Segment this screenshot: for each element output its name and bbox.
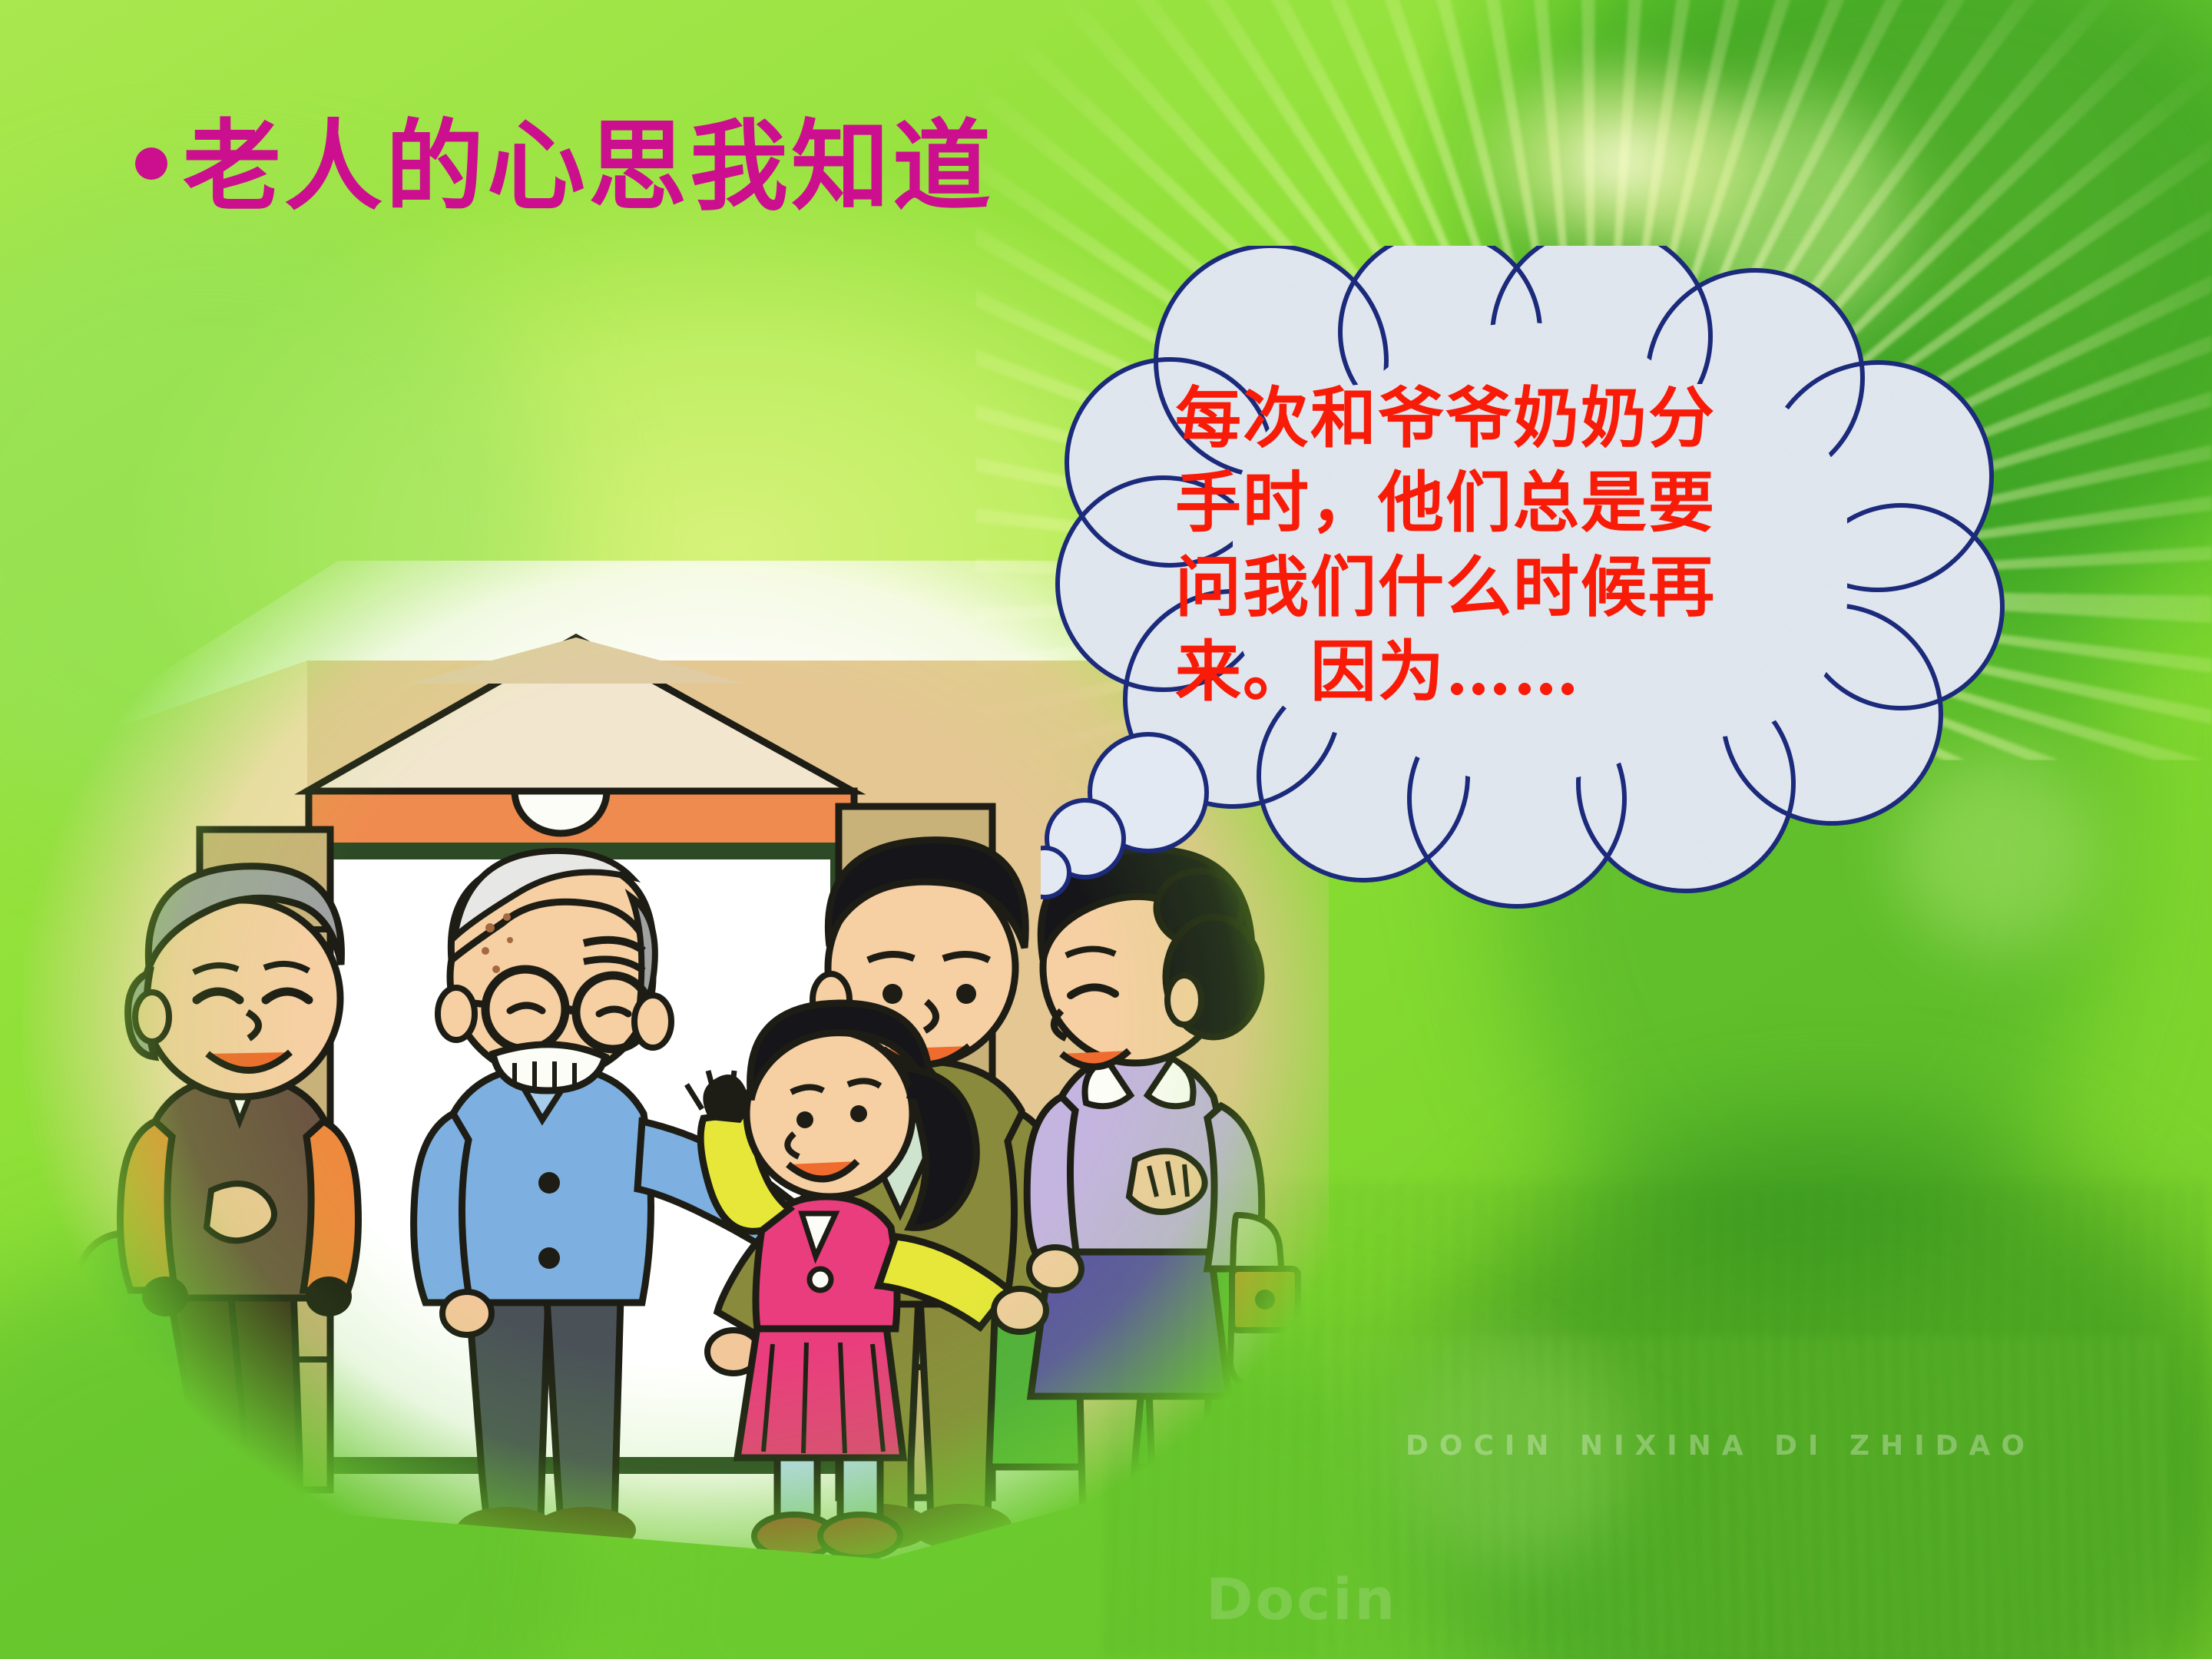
bubble-tail: [1041, 734, 1207, 897]
watermark-text: DOCIN NIXINA DI ZHIDAO: [1406, 1430, 2035, 1462]
slide-canvas: 老人的心思我知道: [0, 0, 2212, 1659]
bubble-line: 来。因为……: [1175, 630, 1866, 714]
watermark-logo: Docin: [1206, 1567, 1397, 1633]
bubble-line: 手时，他们总是要: [1175, 461, 1866, 545]
slide-title: 老人的心思我知道: [135, 115, 994, 218]
sunburst-core: [1459, 46, 1782, 276]
slide-title-text: 老人的心思我知道: [183, 115, 994, 218]
bubble-line: 每次和爷爷奶奶分: [1175, 376, 1866, 461]
bullet-icon: [135, 147, 167, 180]
thought-bubble: 每次和爷爷奶奶分 手时，他们总是要 问我们什么时候再 来。因为……: [1041, 246, 2055, 922]
thought-bubble-text: 每次和爷爷奶奶分 手时，他们总是要 问我们什么时候再 来。因为……: [1175, 376, 1866, 714]
bubble-line: 问我们什么时候再: [1175, 545, 1866, 630]
background-grass-highlight: [1321, 1336, 2166, 1659]
